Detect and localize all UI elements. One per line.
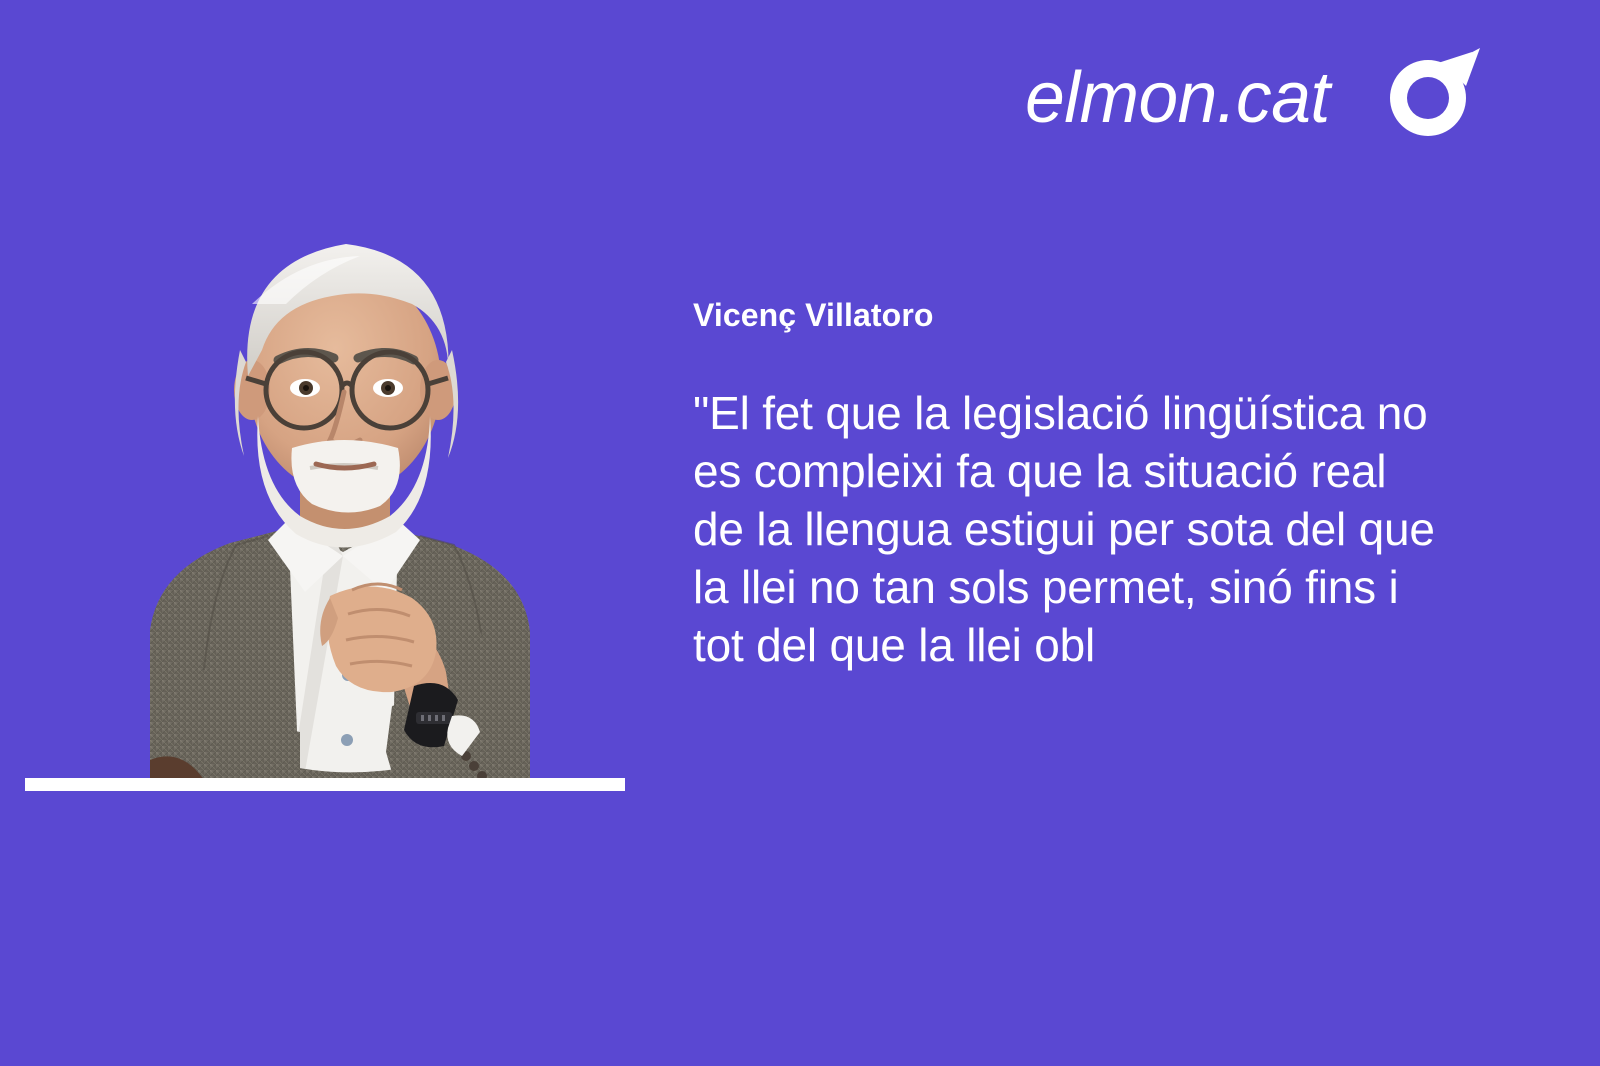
quote-text: "El fet que la legislació lingüística no… — [693, 384, 1443, 674]
brand-wordmark: elmon.cat — [1025, 62, 1330, 134]
speaker-portrait — [0, 200, 660, 800]
quote-text-column: Vicenç Villatoro "El fet que la legislac… — [693, 296, 1453, 674]
portrait-illustration — [0, 200, 660, 800]
quote-card: elmon.cat — [0, 0, 1600, 1066]
speaker-name: Vicenç Villatoro — [693, 296, 1453, 334]
circle-swoosh-logo-icon — [1376, 46, 1480, 150]
brand-logo[interactable]: elmon.cat — [960, 38, 1480, 158]
portrait-underline-rule — [25, 778, 625, 791]
